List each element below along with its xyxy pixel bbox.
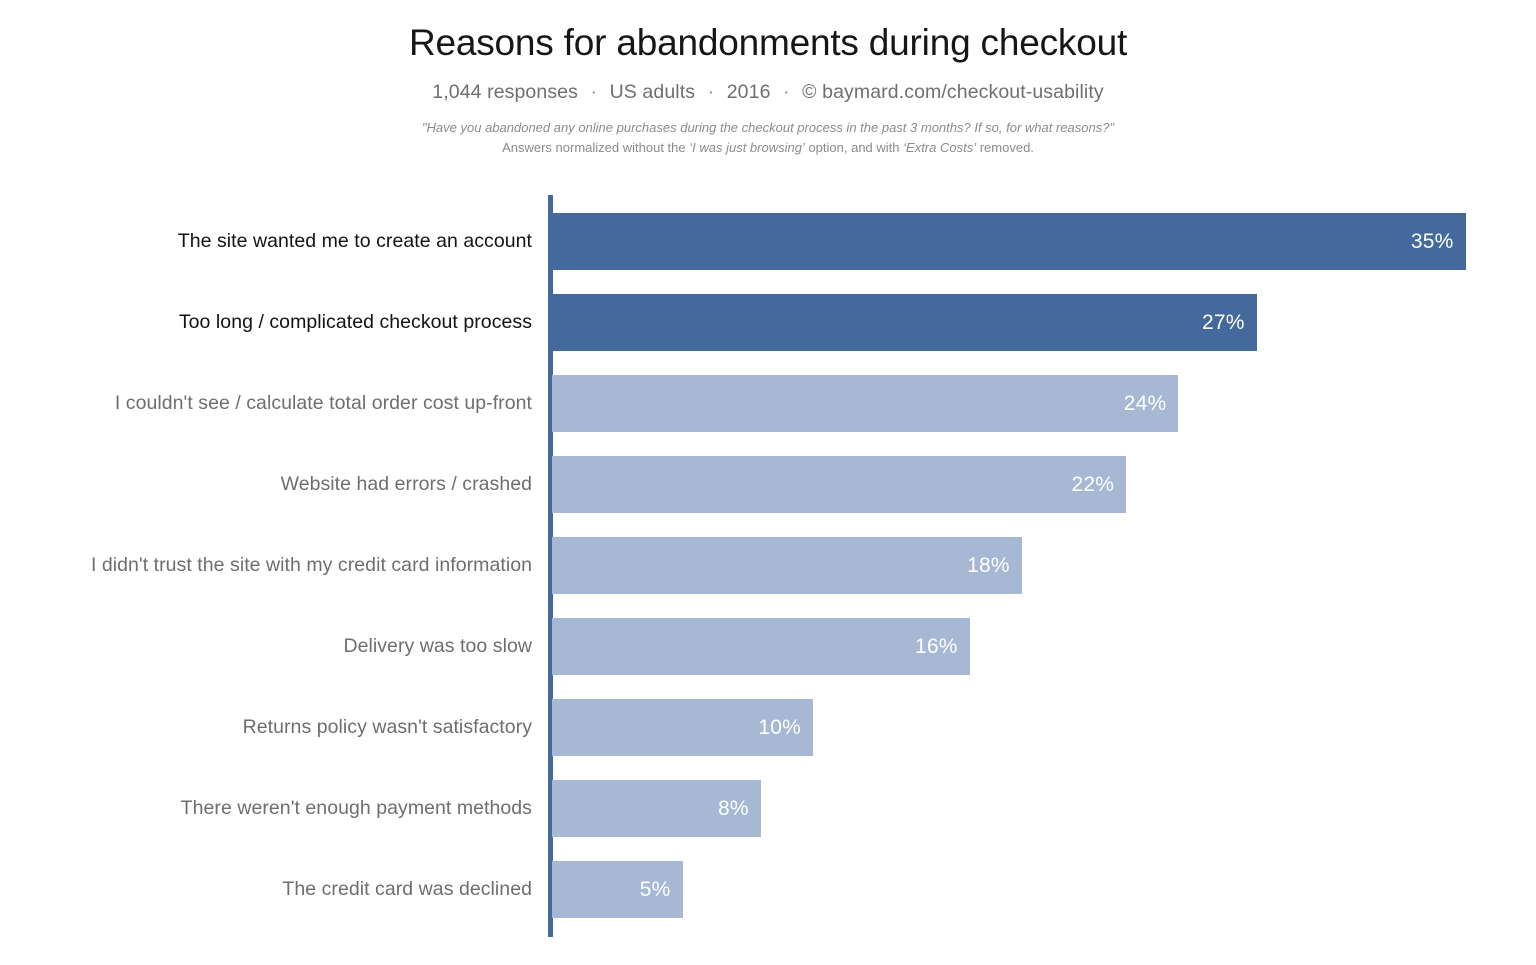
- note-methodology-post: removed.: [976, 140, 1034, 155]
- bar-category-label: I didn't trust the site with my credit c…: [91, 537, 532, 594]
- note-question: "Have you abandoned any online purchases…: [0, 118, 1536, 138]
- bar[interactable]: 5%: [552, 861, 683, 918]
- bar-row[interactable]: I didn't trust the site with my credit c…: [0, 537, 1536, 594]
- bar[interactable]: 22%: [552, 456, 1126, 513]
- bar-value-label: 35%: [1411, 230, 1454, 254]
- subtitle-separator-1: ·: [584, 81, 605, 103]
- chart-header: Reasons for abandonments during checkout…: [0, 0, 1536, 158]
- bar-category-label: The credit card was declined: [282, 861, 532, 918]
- note-methodology-em2: ‘Extra Costs’: [903, 140, 976, 155]
- chart-subtitle: 1,044 responses · US adults · 2016 · © b…: [0, 81, 1536, 104]
- bar-row[interactable]: Returns policy wasn't satisfactory10%: [0, 699, 1536, 756]
- bar-category-label: Too long / complicated checkout process: [179, 294, 532, 351]
- bar[interactable]: 18%: [552, 537, 1022, 594]
- bar[interactable]: 10%: [552, 699, 813, 756]
- bar-row[interactable]: The site wanted me to create an account3…: [0, 213, 1536, 270]
- bar-row[interactable]: The credit card was declined5%: [0, 861, 1536, 918]
- bar-value-label: 18%: [967, 554, 1010, 578]
- bar-value-label: 27%: [1202, 311, 1245, 335]
- chart-notes: "Have you abandoned any online purchases…: [0, 118, 1536, 158]
- bar-category-label: There weren't enough payment methods: [181, 780, 532, 837]
- bar-row[interactable]: I couldn't see / calculate total order c…: [0, 375, 1536, 432]
- bar-rows: The site wanted me to create an account3…: [0, 213, 1536, 942]
- note-methodology: Answers normalized without the ‘I was ju…: [0, 138, 1536, 158]
- page-title: Reasons for abandonments during checkout: [0, 22, 1536, 65]
- bar-value-label: 22%: [1072, 473, 1115, 497]
- note-methodology-em1: ‘I was just browsing’: [689, 140, 805, 155]
- bar[interactable]: 16%: [552, 618, 970, 675]
- bar-value-label: 5%: [640, 878, 671, 902]
- subtitle-separator-3: ·: [776, 81, 797, 103]
- bar-value-label: 10%: [758, 716, 801, 740]
- bar-category-label: Website had errors / crashed: [281, 456, 532, 513]
- subtitle-separator-2: ·: [701, 81, 722, 103]
- bar[interactable]: 35%: [552, 213, 1466, 270]
- bar-row[interactable]: There weren't enough payment methods8%: [0, 780, 1536, 837]
- bar-row[interactable]: Delivery was too slow16%: [0, 618, 1536, 675]
- bar-value-label: 24%: [1124, 392, 1167, 416]
- subtitle-year: 2016: [727, 81, 771, 103]
- bar-row[interactable]: Too long / complicated checkout process2…: [0, 294, 1536, 351]
- bar[interactable]: 24%: [552, 375, 1178, 432]
- subtitle-responses: 1,044 responses: [432, 81, 578, 103]
- subtitle-source: © baymard.com/checkout-usability: [802, 81, 1104, 103]
- bar-value-label: 16%: [915, 635, 958, 659]
- note-methodology-mid: option, and with: [805, 140, 903, 155]
- bar-category-label: The site wanted me to create an account: [178, 213, 532, 270]
- bar-row[interactable]: Website had errors / crashed22%: [0, 456, 1536, 513]
- bar[interactable]: 27%: [552, 294, 1257, 351]
- bar-category-label: Returns policy wasn't satisfactory: [243, 699, 532, 756]
- bar-value-label: 8%: [718, 797, 749, 821]
- bar-category-label: I couldn't see / calculate total order c…: [115, 375, 532, 432]
- subtitle-audience: US adults: [610, 81, 695, 103]
- bar-category-label: Delivery was too slow: [343, 618, 532, 675]
- bar[interactable]: 8%: [552, 780, 761, 837]
- note-methodology-pre: Answers normalized without the: [502, 140, 689, 155]
